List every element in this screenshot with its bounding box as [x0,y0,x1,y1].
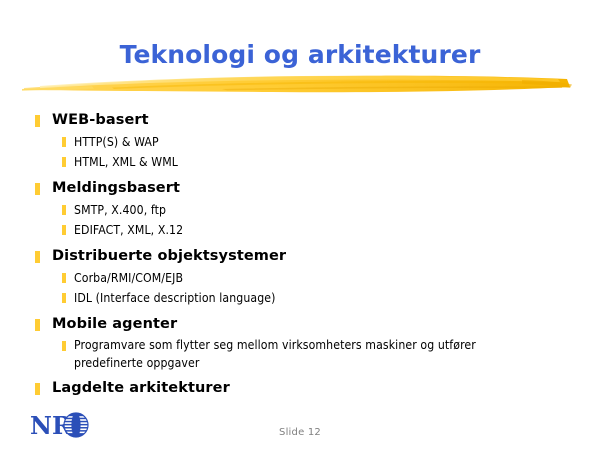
outline-item-label: Meldingsbasert [52,180,180,196]
outline-item-level2: SMTP, X.400, ftp [0,200,600,220]
outline-item-label: EDIFACT, XML, X.12 [74,223,183,237]
outline-item-level1: Lagdelte arkitekturer [0,377,600,400]
bullet-square-icon [62,205,66,215]
outline-item-level2: Programvare som flytter seg mellom virks… [0,336,536,372]
outline-item-level1: Meldingsbasert [0,177,600,200]
outline-item-label: HTTP(S) & WAP [74,135,159,149]
outline-item-level1: WEB-basert [0,109,600,132]
outline-item-label: HTML, XML & WML [74,155,178,169]
bullet-square-icon [35,383,40,395]
bullet-square-icon [62,225,66,235]
slide-number: Slide 12 [0,427,600,438]
outline-item-label: Distribuerte objektsystemer [52,248,286,264]
page-title: Teknologi og arkitekturer [0,40,600,70]
outline-item-level1: Distribuerte objektsystemer [0,245,600,268]
bullet-square-icon [62,341,66,351]
bullet-square-icon [35,115,40,127]
bullet-square-icon [62,273,66,283]
bullet-square-icon [62,137,66,147]
slide-canvas: Teknologi og arkitekturer [0,0,600,450]
bullet-square-icon [35,319,40,331]
outline-item-label: IDL (Interface description language) [74,291,276,305]
outline-item-label: Programvare som flytter seg mellom virks… [74,338,476,370]
outline-item-label: Lagdelte arkitekturer [52,380,230,396]
bullet-square-icon [35,251,40,263]
outline-item-level2: Corba/RMI/COM/EJB [0,268,600,288]
outline-item-level2: IDL (Interface description language) [0,288,600,308]
outline-item-level1: Mobile agenter [0,313,600,336]
bullet-square-icon [62,293,66,303]
outline-list: WEB-basert HTTP(S) & WAP HTML, XML & WML… [0,104,600,400]
yellow-brush-stroke [22,66,574,100]
outline-item-level2: HTML, XML & WML [0,152,600,172]
outline-item-label: WEB-basert [52,112,149,128]
outline-item-level2: EDIFACT, XML, X.12 [0,220,600,240]
outline-item-label: Corba/RMI/COM/EJB [74,271,183,285]
bullet-square-icon [35,183,40,195]
outline-item-label: Mobile agenter [52,316,177,332]
outline-item-level2: HTTP(S) & WAP [0,132,600,152]
outline-item-label: SMTP, X.400, ftp [74,203,166,217]
bullet-square-icon [62,157,66,167]
